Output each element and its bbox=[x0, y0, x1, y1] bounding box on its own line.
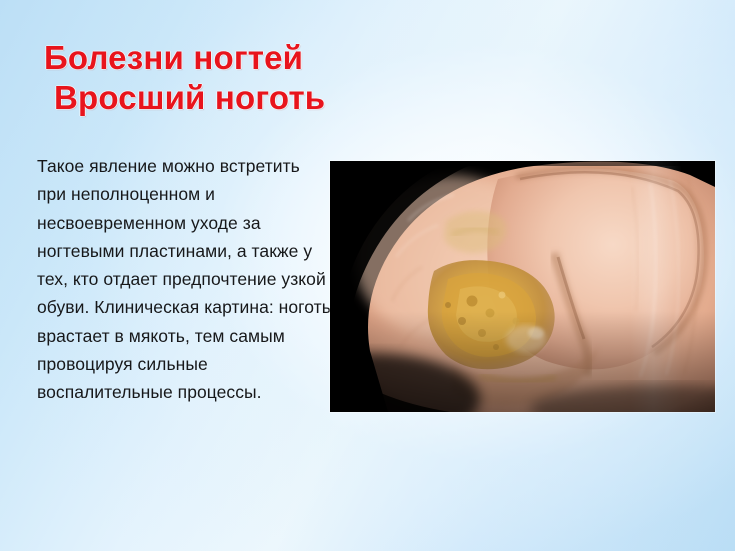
body-paragraph: Такое явление можно встретить при неполн… bbox=[37, 152, 332, 407]
ingrown-toenail-closeup-photo bbox=[330, 161, 715, 412]
slide-title: Болезни ногтей Вросший ноготь bbox=[44, 38, 464, 118]
title-line-2: Вросший ноготь bbox=[54, 78, 464, 118]
presentation-slide: Болезни ногтей Вросший ноготь Такое явле… bbox=[0, 0, 735, 551]
title-line-1: Болезни ногтей bbox=[44, 38, 464, 78]
body-text-block: Такое явление можно встретить при неполн… bbox=[37, 152, 332, 407]
